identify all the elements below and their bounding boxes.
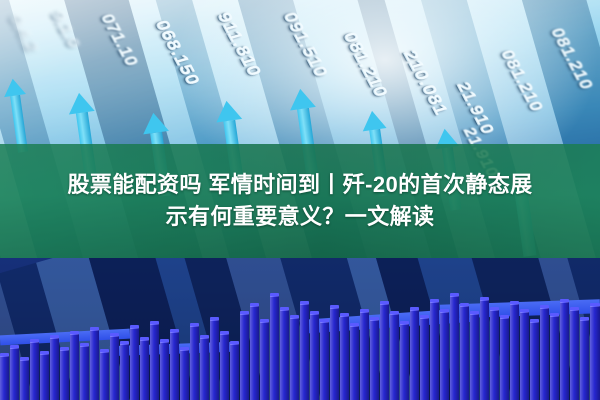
chart-bar [20,360,29,400]
chart-bar [580,320,589,400]
chart-bar [350,326,359,400]
chart-bar [490,310,499,400]
chart-bar [320,322,329,400]
arrow-head [214,99,243,122]
chart-bar [550,316,559,400]
chart-bar-cap [20,357,29,361]
chart-bar [560,302,569,400]
chart-bar-cap [120,341,129,345]
chart-bar-cap [100,349,109,353]
chart-bar [100,352,109,400]
banner-image: 0.4.29.1.0071.10068.150911.810091.510081… [0,0,600,400]
chart-bar [520,312,529,400]
caption-line-2: 示有何重要意义？一文解读 [166,205,435,230]
chart-bar-cap [550,313,559,317]
chart-bar-cap [330,305,339,309]
chart-bar [120,344,129,400]
chart-bar-cap [470,311,479,315]
chart-bar-cap [480,297,489,301]
chart-bar-cap [370,317,379,321]
chart-bar-cap [430,299,439,303]
chart-bar-cap [420,315,429,319]
arrow-head [287,87,316,110]
chart-bar [300,304,309,400]
chart-bar-cap [50,335,59,339]
chart-bar [460,306,469,400]
chart-bar-cap [280,307,289,311]
chart-bar [500,318,509,400]
chart-bar-cap [230,341,239,345]
chart-bar [340,316,349,400]
chart-bar [290,318,299,400]
chart-bar-cap [450,293,459,297]
chart-bar [410,310,419,400]
chart-bar [150,324,159,400]
chart-bar [70,334,79,400]
chart-bar [360,312,369,400]
chart-bar [590,306,600,400]
chart-bar [190,326,199,400]
chart-bar-cap [190,323,199,327]
caption-line-1: 股票能配资吗 军情时间到丨歼-20的首次静态展 [67,173,532,198]
chart-bar [440,312,449,400]
chart-bar-cap [220,331,229,335]
chart-bar [380,304,389,400]
chart-bar [330,308,339,400]
chart-bar-cap [200,335,209,339]
chart-bar [430,302,439,400]
chart-bar-cap [540,305,549,309]
chart-bar-cap [360,309,369,313]
chart-bar-cap [340,313,349,317]
chart-bar [390,314,399,400]
chart-bar [160,342,169,400]
chart-bar [80,346,89,400]
chart-bar [200,338,209,400]
chart-bar-cap [80,343,89,347]
chart-bar-cap [110,333,119,337]
chart-bar-cap [320,319,329,323]
chart-bar [110,336,119,400]
chart-bar [540,308,549,400]
chart-bar-cap [30,339,39,343]
chart-bar [220,334,229,400]
chart-bar-cap [490,307,499,311]
chart-bar-cap [530,319,539,323]
arrow-head [140,111,169,134]
chart-bar-cap [390,311,399,315]
chart-bar [240,314,249,400]
chart-bar-cap [160,339,169,343]
chart-bar-cap [210,317,219,321]
chart-bar-cap [290,315,299,319]
chart-bar-cap [60,347,69,351]
chart-bar [230,344,239,400]
chart-bar [10,348,19,400]
chart-bar [400,324,409,400]
chart-bar-cap [180,347,189,351]
chart-bar [280,310,289,400]
chart-bar-cap [400,321,409,325]
chart-bar-cap [40,351,49,355]
chart-bar [570,310,579,400]
chart-bar [90,330,99,400]
chart-bar-cap [150,321,159,325]
chart-bar-cap [460,303,469,307]
chart-bar-cap [520,309,529,313]
chart-bar-cap [0,353,9,357]
chart-bar [30,342,39,400]
chart-bar-cap [270,293,279,297]
chart-bar-cap [440,309,449,313]
chart-bar-cap [130,325,139,329]
arrow-head [66,91,95,114]
chart-bar-cap [240,311,249,315]
chart-bar [480,300,489,400]
arrow-head [360,109,386,131]
chart-bar-cap [300,301,309,305]
chart-bar [250,306,259,400]
chart-bar-cap [170,329,179,333]
chart-bar [270,296,279,400]
chart-bar [60,350,69,400]
chart-bar-cap [380,301,389,305]
chart-bar-cap [580,317,589,321]
chart-bar [140,340,149,400]
chart-bar [510,304,519,400]
chart-bar [0,356,9,400]
arrow-head [2,77,26,97]
chart-bar-cap [90,327,99,331]
chart-bar [130,328,139,400]
chart-bar-cap [410,307,419,311]
chart-bar-cap [500,315,509,319]
caption-text-block: 股票能配资吗 军情时间到丨歼-20的首次静态展 示有何重要意义？一文解读 [0,144,600,258]
chart-bar [470,314,479,400]
chart-bar [170,332,179,400]
chart-bar [450,296,459,400]
chart-bar-cap [590,303,600,307]
chart-bar [180,350,189,400]
chart-bar [40,354,49,400]
chart-bar-cap [560,299,569,303]
chart-bar [310,314,319,400]
chart-bar-cap [250,303,259,307]
bar-chart-field [0,258,600,400]
chart-bar [50,338,59,400]
chart-bar [260,322,269,400]
chart-bar [420,318,429,400]
chart-bar [210,320,219,400]
chart-bar-cap [510,301,519,305]
chart-bar-cap [570,307,579,311]
chart-bar-cap [140,337,149,341]
chart-bar-cap [10,345,19,349]
chart-bar-cap [70,331,79,335]
chart-bar-cap [350,323,359,327]
chart-bar-cap [260,319,269,323]
chart-bar [370,320,379,400]
chart-bar-cap [310,311,319,315]
chart-bar [530,322,539,400]
